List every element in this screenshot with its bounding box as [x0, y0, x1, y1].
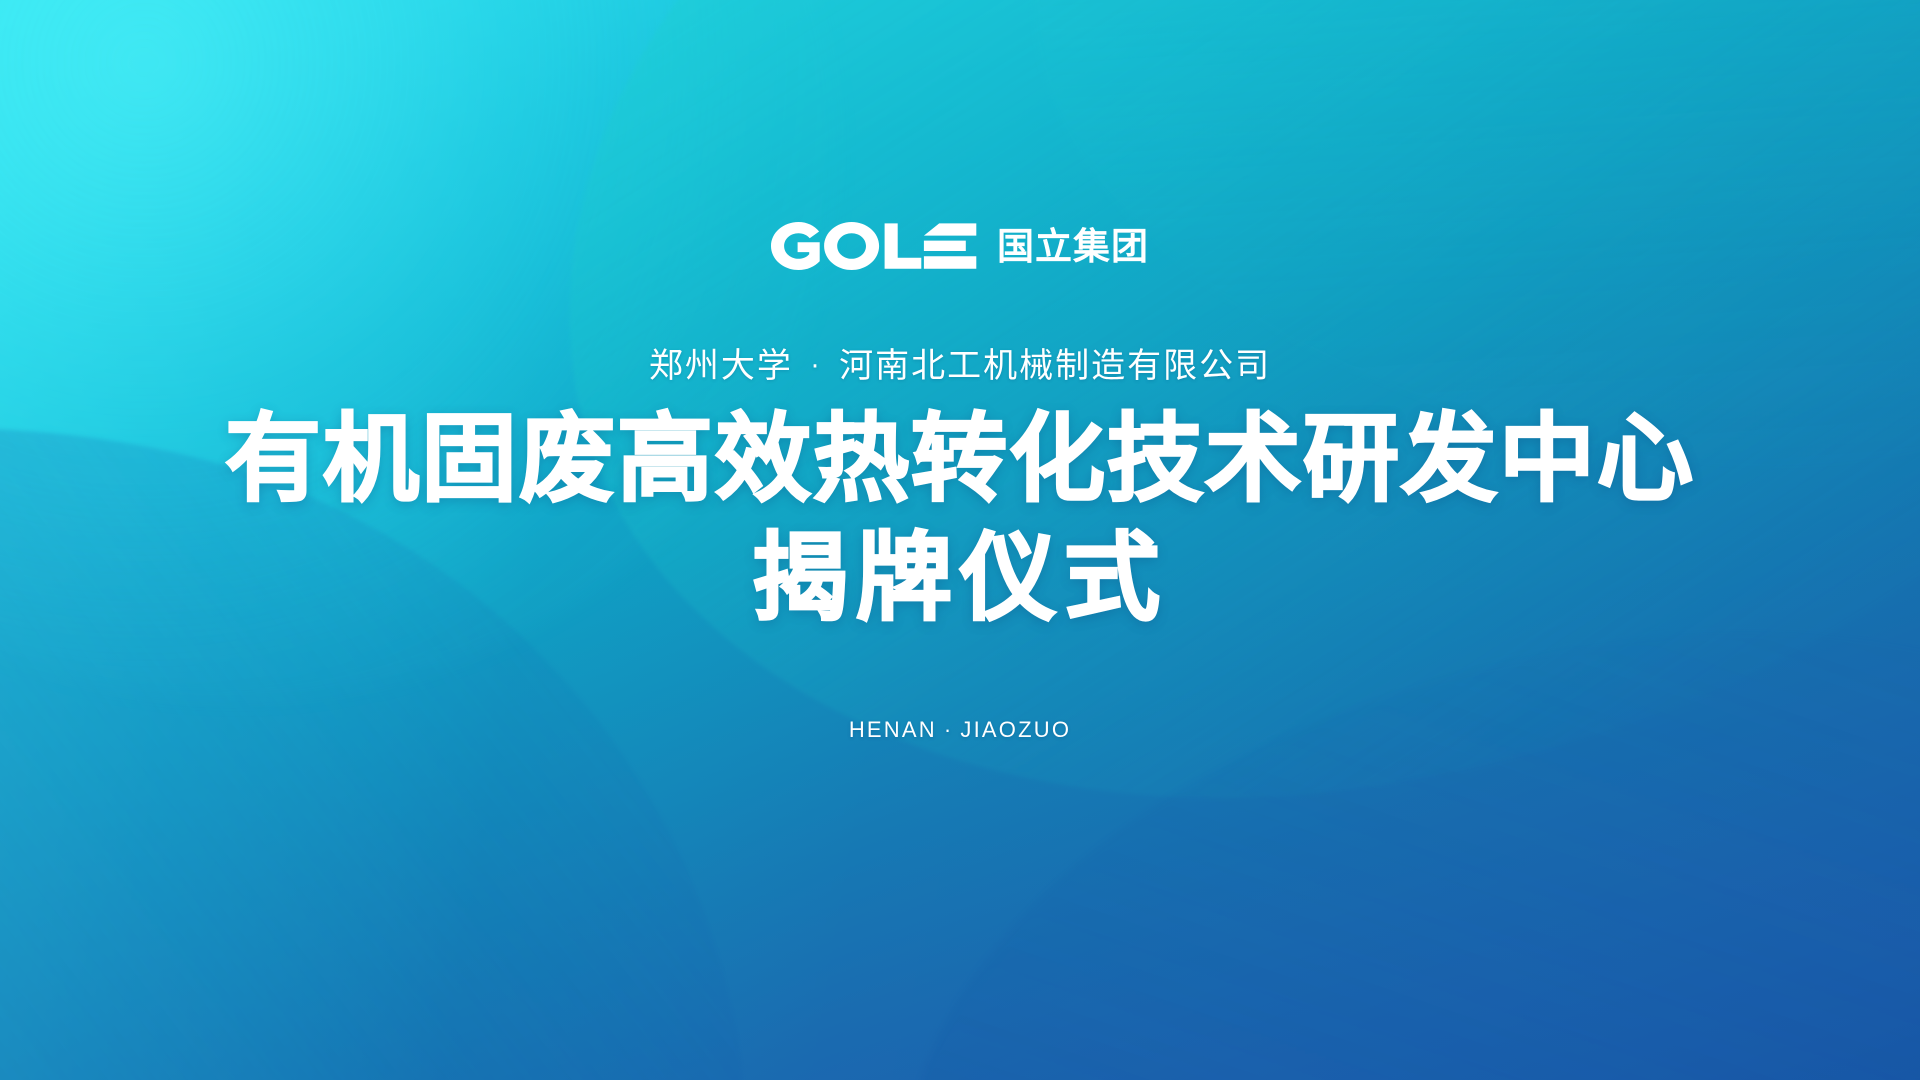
location-province: HENAN — [849, 717, 937, 742]
organizations-subtitle: 郑州大学·河南北工机械制造有限公司 — [649, 346, 1271, 387]
location-footer: HENAN·JIAOZUO — [849, 717, 1071, 743]
location-city: JIAOZUO — [960, 717, 1071, 742]
brand-logo: 国立集团 — [771, 222, 1149, 270]
gole-wordmark-icon — [771, 222, 977, 270]
subtitle-separator: · — [793, 352, 839, 382]
title-line-1: 有机固废高效热转化技术研发中心 — [225, 403, 1695, 516]
page-title: 有机固废高效热转化技术研发中心 揭牌仪式 — [225, 403, 1695, 636]
organization-name-company: 河南北工机械制造有限公司 — [839, 346, 1271, 386]
brand-logo-cn-text: 国立集团 — [997, 228, 1149, 265]
slide-content: 国立集团 郑州大学·河南北工机械制造有限公司 有机固废高效热转化技术研发中心 揭… — [0, 0, 1920, 1080]
title-line-2: 揭牌仪式 — [752, 522, 1168, 635]
presentation-slide: 国立集团 郑州大学·河南北工机械制造有限公司 有机固废高效热转化技术研发中心 揭… — [0, 0, 1920, 1080]
organization-name-university: 郑州大学 — [649, 346, 793, 386]
footer-separator: · — [937, 717, 961, 742]
